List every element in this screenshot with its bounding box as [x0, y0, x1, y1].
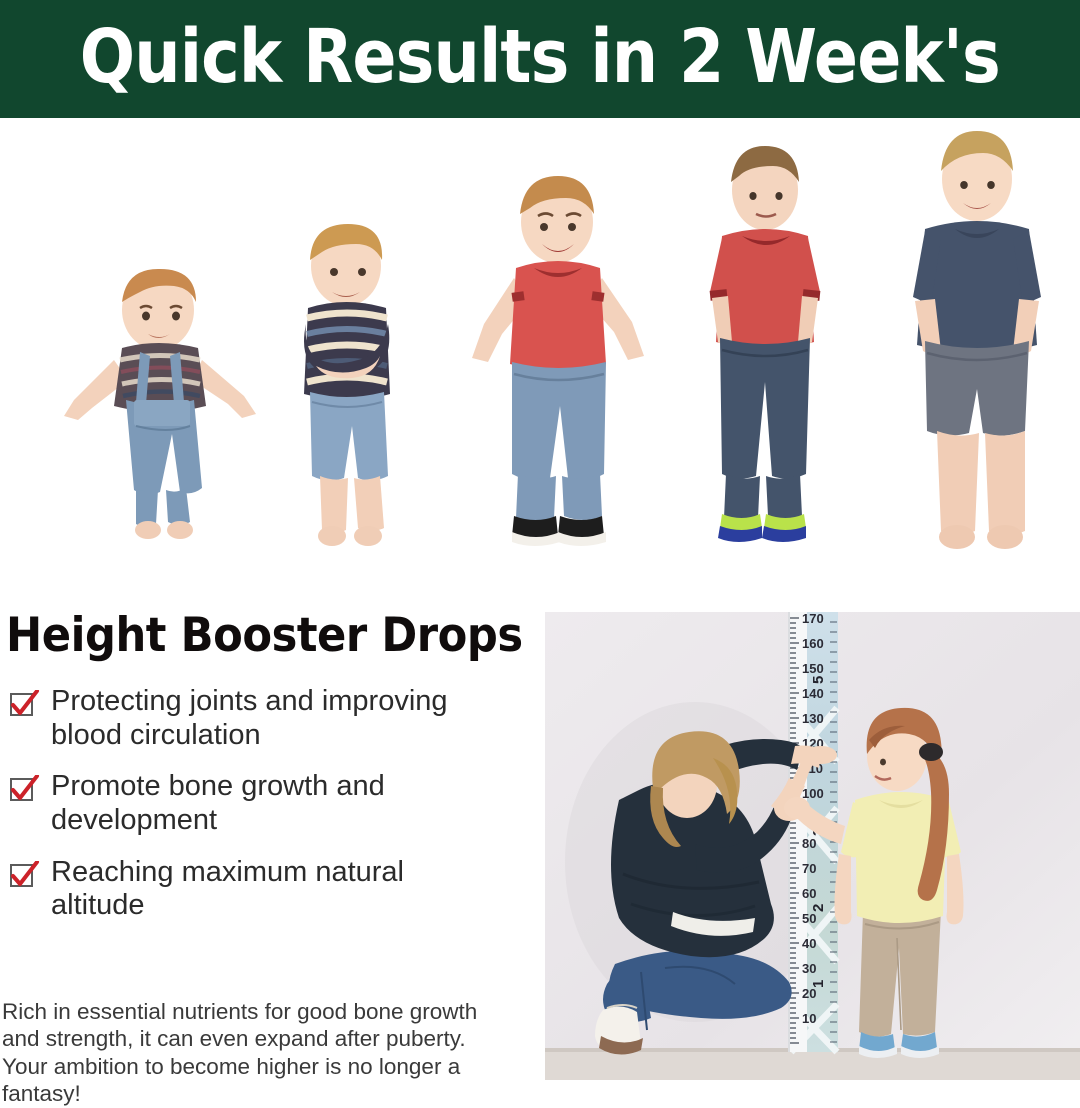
svg-text:170: 170 — [802, 612, 824, 626]
svg-text:2: 2 — [810, 904, 827, 912]
product-title: Height Booster Drops — [6, 612, 523, 659]
product-description: Rich in essential nutrients for good bon… — [2, 998, 502, 1108]
svg-text:60: 60 — [802, 886, 816, 901]
child-figure-3 — [462, 172, 652, 562]
checkmark-icon — [8, 775, 36, 803]
header-banner: Quick Results in 2 Week's — [0, 0, 1080, 118]
svg-text:10: 10 — [802, 1011, 816, 1026]
hero-children-photo — [0, 118, 1080, 580]
svg-text:70: 70 — [802, 861, 816, 876]
svg-text:150: 150 — [802, 661, 824, 676]
measuring-photo: 170 160 150 140 130 120 110 100 90 80 70… — [545, 612, 1080, 1080]
checkmark-icon — [8, 861, 36, 889]
svg-text:40: 40 — [802, 936, 816, 951]
child-figure-1 — [52, 268, 267, 558]
child-figure-5 — [905, 127, 1050, 562]
svg-text:130: 130 — [802, 711, 824, 726]
svg-text:30: 30 — [802, 961, 816, 976]
benefit-label: Reaching maximum natural altitude — [51, 856, 501, 923]
banner-title: Quick Results in 2 Week's — [80, 20, 1000, 94]
svg-text:1: 1 — [810, 980, 827, 988]
svg-text:50: 50 — [802, 911, 816, 926]
child-figure-4 — [700, 142, 830, 562]
svg-text:160: 160 — [802, 636, 824, 651]
benefit-label: Promote bone growth and development — [51, 770, 501, 837]
benefit-item: Reaching maximum natural altitude — [8, 856, 508, 923]
benefits-list: Protecting joints and improving blood ci… — [8, 685, 508, 941]
svg-text:100: 100 — [802, 786, 824, 801]
product-info-column: Height Booster Drops Protecting joints a… — [0, 580, 545, 1080]
benefit-label: Protecting joints and improving blood ci… — [51, 685, 501, 752]
benefit-item: Protecting joints and improving blood ci… — [8, 685, 508, 752]
svg-text:5: 5 — [810, 676, 827, 684]
checkmark-icon — [8, 690, 36, 718]
svg-text:80: 80 — [802, 836, 816, 851]
benefit-item: Promote bone growth and development — [8, 770, 508, 837]
child-figure-2 — [282, 220, 412, 560]
svg-text:140: 140 — [802, 686, 824, 701]
